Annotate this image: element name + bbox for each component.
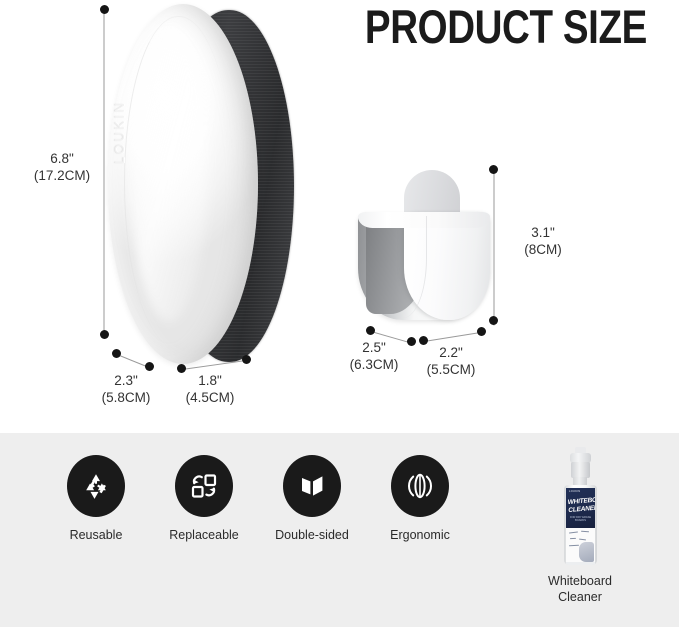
eraser-embossed-logo: LOUKIN [112, 101, 127, 164]
cleaner-caption-line1: Whiteboard [512, 573, 648, 589]
holder-illustration [358, 170, 498, 325]
scribble-mark [581, 531, 589, 533]
spray-bottle-illustration: LOUKIN WHITEBOARD CLEANER FOR DRY ERASE … [560, 447, 600, 565]
feature-list: Reusable Repla [48, 455, 468, 543]
bottle-label-subtitle: FOR DRY ERASE BOARDS [569, 516, 592, 523]
eraser-width-metric: (4.5CM) [170, 389, 250, 406]
feature-item-ergonomic: Ergonomic [372, 455, 468, 543]
holder-height-label: 3.1" (8CM) [508, 224, 578, 258]
holder-depth-metric: (6.3CM) [334, 356, 414, 373]
holder-depth-dot-start [366, 326, 375, 335]
eraser-depth-inches: 2.3" [86, 372, 166, 389]
double-sided-badge [283, 455, 341, 517]
feature-item-replaceable: Replaceable [156, 455, 252, 543]
holder-depth-inches: 2.5" [334, 339, 414, 356]
holder-width-line [424, 332, 481, 342]
replaceable-icon [188, 470, 220, 502]
bottle-label-upper: LOUKIN WHITEBOARD CLEANER FOR DRY ERASE … [566, 488, 595, 528]
holder-width-metric: (5.5CM) [411, 361, 491, 378]
holder-width-inches: 2.2" [411, 344, 491, 361]
holder-height-metric: (8CM) [508, 241, 578, 258]
eraser-height-metric: (17.2CM) [22, 167, 102, 184]
feature-panel: Reusable Repla [0, 433, 679, 627]
scribble-mark [570, 538, 576, 540]
holder-height-dot-top [489, 165, 498, 174]
holder-width-dot-right [477, 327, 486, 336]
product-size-infographic: PRODUCT SIZE LOUKIN 6.8" [0, 0, 679, 627]
bottle-foot [566, 562, 595, 565]
holder-height-line [494, 171, 495, 326]
feature-label-ergonomic: Ergonomic [372, 527, 468, 543]
hand-wiping-illustration [579, 542, 594, 562]
eraser-depth-metric: (5.8CM) [86, 389, 166, 406]
eraser-width-inches: 1.8" [170, 372, 250, 389]
recycle-badge [67, 455, 125, 517]
feature-item-double-sided: Double-sided [264, 455, 360, 543]
double-sided-icon [296, 470, 328, 502]
cleaner-caption: Whiteboard Cleaner [512, 573, 648, 605]
ergonomic-icon [403, 470, 437, 502]
replaceable-badge [175, 455, 233, 517]
eraser-height-label: 6.8" (17.2CM) [22, 150, 102, 184]
bottle-collar [571, 462, 590, 478]
recycle-icon [80, 470, 112, 502]
holder-width-label: 2.2" (5.5CM) [411, 344, 491, 378]
size-panel: PRODUCT SIZE LOUKIN 6.8" [0, 0, 679, 433]
eraser-illustration: LOUKIN [108, 4, 298, 368]
eraser-body: LOUKIN [108, 4, 258, 364]
bottle-label-lower [566, 528, 595, 562]
feature-item-reusable: Reusable [48, 455, 144, 543]
eraser-width-dot-right [242, 355, 251, 364]
bottle-label-brand: LOUKIN [569, 490, 580, 493]
holder-height-inches: 3.1" [508, 224, 578, 241]
eraser-height-inches: 6.8" [22, 150, 102, 167]
cleaner-item: LOUKIN WHITEBOARD CLEANER FOR DRY ERASE … [512, 447, 648, 605]
bottle-label-title: WHITEBOARD CLEANER [567, 497, 593, 514]
eraser-height-line [104, 11, 105, 336]
holder-height-dot-bottom [489, 316, 498, 325]
bottle-body: LOUKIN WHITEBOARD CLEANER FOR DRY ERASE … [564, 485, 597, 565]
cleaner-caption-line2: Cleaner [512, 589, 648, 605]
page-title: PRODUCT SIZE [365, 2, 647, 52]
eraser-crease [124, 16, 233, 349]
scribble-mark [569, 531, 578, 533]
feature-label-double-sided: Double-sided [264, 527, 360, 543]
scribble-mark [569, 545, 579, 547]
eraser-depth-dot-end [145, 362, 154, 371]
ergonomic-badge [391, 455, 449, 517]
eraser-height-dot-top [100, 5, 109, 14]
holder-depth-label: 2.5" (6.3CM) [334, 339, 414, 373]
eraser-depth-dot-start [112, 349, 121, 358]
eraser-height-dot-bottom [100, 330, 109, 339]
scribble-mark [579, 539, 586, 541]
eraser-width-label: 1.8" (4.5CM) [170, 372, 250, 406]
feature-label-replaceable: Replaceable [156, 527, 252, 543]
eraser-depth-label: 2.3" (5.8CM) [86, 372, 166, 406]
feature-label-reusable: Reusable [48, 527, 144, 543]
